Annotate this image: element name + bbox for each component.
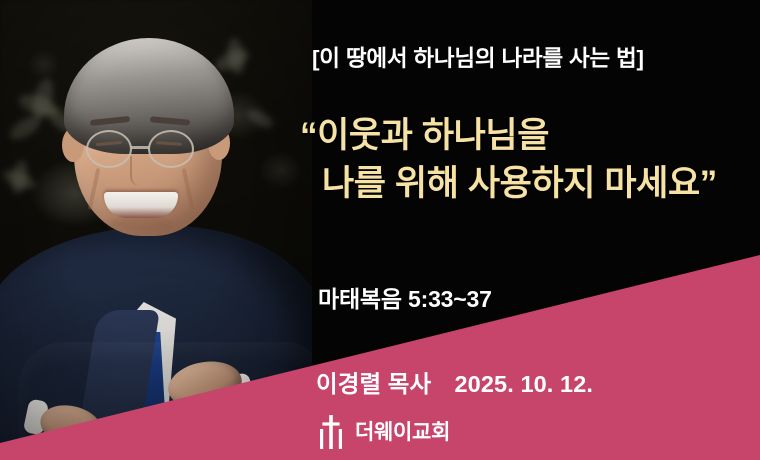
nose xyxy=(130,156,150,186)
speaker-name: 이경렬 목사 xyxy=(316,371,431,397)
cross-icon xyxy=(316,413,346,449)
quote-line-2: 나를 위해 사용하지 마세요” xyxy=(300,160,750,208)
church-logo: 더웨이교회 xyxy=(316,413,450,449)
eyeglasses-lens xyxy=(86,130,132,168)
scripture-reference: 마태복음 5:33~37 xyxy=(318,280,492,314)
eyeglasses-lens xyxy=(148,130,194,168)
eyeglasses-bridge xyxy=(131,146,149,149)
smiling-mouth xyxy=(104,192,178,218)
quote-line-1: “이웃과 하나님을 xyxy=(300,112,750,160)
church-name: 더웨이교회 xyxy=(355,416,450,446)
chin-shadow xyxy=(108,216,174,232)
sermon-date: 2025. 10. 12. xyxy=(455,371,594,397)
sermon-quote: “이웃과 하나님을 나를 위해 사용하지 마세요” xyxy=(300,112,750,208)
sermon-title-card: [이 땅에서 하나님의 나라를 사는 법] “이웃과 하나님을 나를 위해 사용… xyxy=(0,0,760,460)
speaker-and-date: 이경렬 목사 2025. 10. 12. xyxy=(316,365,593,399)
series-title: [이 땅에서 하나님의 나라를 사는 법] xyxy=(312,41,712,73)
